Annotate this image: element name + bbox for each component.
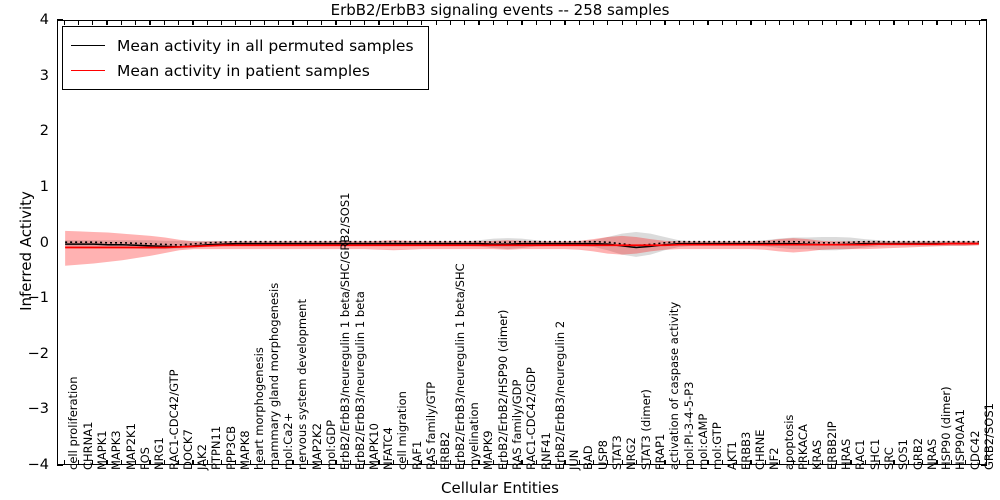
x-axis-tick-mark [493,460,494,465]
x-axis-tick-mark [908,20,909,25]
x-axis-tick-mark [550,20,551,25]
x-axis-tick-label: heart morphogenesis [254,347,266,470]
x-axis-tick-mark [922,460,923,465]
x-axis-tick-mark [178,20,179,25]
x-axis-tick-label: NRG1 [154,437,166,470]
chart-figure: ErbB2/ErbB3 signaling events -- 258 samp… [0,0,1000,500]
x-axis-tick-mark [951,20,952,25]
x-axis-tick-mark [521,460,522,465]
x-axis-tick-mark [536,460,537,465]
x-axis-tick-mark [92,460,93,465]
x-axis-tick-label: ErbB2/ErbB3/neuregulin 1 beta/SHC [455,263,467,470]
x-axis-tick-label: mammary gland morphogenesis [269,283,281,470]
x-axis-tick-mark [78,20,79,25]
x-axis-tick-mark [879,460,880,465]
x-axis-tick-mark [321,20,322,25]
x-axis-tick-label: SHC1 [870,439,882,470]
x-axis-tick-mark [106,20,107,25]
x-axis-tick-label: cell proliferation [68,376,80,470]
x-axis-tick-label: mol:PI-3-4-5-P3 [684,382,696,470]
x-axis-tick-mark [750,20,751,25]
x-axis-tick-label: RAS family/GDP [512,380,524,470]
x-axis-tick-mark [808,20,809,25]
x-axis-tick-mark [207,20,208,25]
x-axis-tick-mark [436,460,437,465]
x-axis-label: Cellular Entities [0,479,1000,497]
x-axis-tick-mark [622,20,623,25]
x-axis-tick-mark [250,460,251,465]
x-axis-tick-mark [736,460,737,465]
x-axis-tick-mark [521,20,522,25]
x-axis-tick-label: JAK2 [197,444,209,470]
x-axis-tick-mark [793,460,794,465]
x-axis-tick-mark [364,20,365,25]
x-axis-tick-mark [722,20,723,25]
x-axis-tick-label: SRC [884,447,896,470]
x-axis-tick-label: STAT3 (dimer) [641,389,653,470]
x-axis-tick-mark [908,460,909,465]
x-axis-tick-mark [407,460,408,465]
x-axis-tick-mark [493,20,494,25]
x-axis-tick-mark [593,460,594,465]
x-axis-tick-mark [235,460,236,465]
legend-label-patient: Mean activity in patient samples [117,62,370,80]
x-axis-tick-mark [378,20,379,25]
x-axis-tick-mark [965,20,966,25]
x-axis-tick-mark [893,460,894,465]
x-axis-tick-mark [421,20,422,25]
x-axis-tick-mark [965,460,966,465]
x-axis-tick-mark [836,20,837,25]
x-axis-tick-mark [793,20,794,25]
x-axis-tick-mark [536,20,537,25]
x-axis-tick-mark [393,460,394,465]
x-axis-tick-mark [707,460,708,465]
x-axis-tick-label: RAC1 [855,439,867,470]
x-axis-tick-mark [450,20,451,25]
x-axis-tick-mark [78,460,79,465]
x-axis-tick-mark [335,20,336,25]
x-axis-tick-mark [464,460,465,465]
x-axis-tick-mark [979,460,980,465]
x-axis-tick-mark [893,20,894,25]
x-axis-tick-mark [693,20,694,25]
x-axis-tick-mark [865,20,866,25]
x-axis-tick-mark [879,20,880,25]
x-axis-tick-label: NF2 [769,447,781,470]
x-axis-tick-mark [64,460,65,465]
x-axis-tick-mark [650,460,651,465]
x-axis-tick-label: ErbB2/ErbB3/neuregulin 1 beta/SHC/GRB2/S… [340,193,352,470]
x-axis-tick-mark [936,20,937,25]
x-axis-tick-mark [335,460,336,465]
x-axis-tick-mark [507,20,508,25]
x-axis-tick-label: GRB2 [913,438,925,470]
x-axis-tick-mark [178,460,179,465]
x-axis-tick-mark [192,460,193,465]
x-axis-tick-label: NRAS [927,439,939,470]
x-axis-tick-mark [607,460,608,465]
x-axis-tick-mark [579,460,580,465]
x-axis-tick-mark [836,460,837,465]
x-axis-tick-mark [121,20,122,25]
x-axis-tick-mark [321,460,322,465]
x-axis-tick-mark [292,460,293,465]
x-axis-tick-mark [393,20,394,25]
x-axis-tick-mark [278,460,279,465]
x-axis-tick-mark [850,460,851,465]
x-axis-tick-mark [750,460,751,465]
x-axis-tick-mark [564,460,565,465]
x-axis-tick-mark [121,460,122,465]
x-axis-tick-mark [164,20,165,25]
x-axis-tick-mark [149,20,150,25]
x-axis-tick-mark [292,20,293,25]
x-axis-tick-label: KRAS [812,440,824,470]
x-axis-tick-mark [679,460,680,465]
x-axis-tick-mark [607,20,608,25]
x-axis-tick-mark [579,20,580,25]
x-axis-tick-mark [636,460,637,465]
x-axis-tick-mark [307,460,308,465]
x-axis-tick-mark [207,460,208,465]
x-axis-tick-label: nervous system development [297,299,309,470]
x-axis-tick-mark [736,20,737,25]
x-axis-tick-mark [779,20,780,25]
x-axis-tick-mark [865,460,866,465]
x-axis-tick-mark [135,20,136,25]
x-axis-tick-mark [679,20,680,25]
x-axis-tick-mark [765,20,766,25]
x-axis-tick-mark [822,460,823,465]
x-axis-tick-mark [593,20,594,25]
legend-label-permuted: Mean activity in all permuted samples [117,37,414,55]
x-axis-tick-label: HRAS [841,439,853,470]
x-axis-tick-mark [722,460,723,465]
legend-swatch-patient [71,70,105,71]
x-axis-tick-mark [850,20,851,25]
x-axis-tick-label: BAD [583,445,595,470]
x-axis-tick-mark [407,20,408,25]
x-axis-tick-mark [192,20,193,25]
x-axis-tick-mark [221,20,222,25]
x-axis-tick-mark [135,460,136,465]
x-axis-tick-mark [264,460,265,465]
x-axis-tick-mark [951,460,952,465]
x-axis-tick-label: USP8 [598,440,610,470]
x-axis-tick-mark [364,460,365,465]
x-axis-tick-mark [421,460,422,465]
x-axis-tick-mark [164,460,165,465]
x-axis-tick-label: RAS family/GTP [426,382,438,470]
x-axis-tick-label: activation of caspase activity [669,302,681,470]
x-axis-tick-label: HSP90 (dimer) [941,386,953,470]
legend-item: Mean activity in all permuted samples [71,33,414,58]
x-axis-tick-mark [149,460,150,465]
x-axis-tick-mark [436,20,437,25]
x-axis-tick-mark [564,20,565,25]
x-axis-tick-label: ErbB2/ErbB2/HSP90 (dimer) [498,310,510,470]
x-axis-tick-mark [464,20,465,25]
x-axis-tick-mark [106,460,107,465]
x-axis-tick-mark [822,20,823,25]
x-axis-tick-mark [478,20,479,25]
x-axis-tick-mark [664,20,665,25]
x-axis-tick-mark [250,20,251,25]
x-axis-tick-mark [550,460,551,465]
x-axis-tick-mark [478,460,479,465]
x-axis-tick-mark [779,460,780,465]
legend-swatch-permuted [71,45,105,46]
x-axis-tick-mark [979,20,980,25]
x-axis-tick-mark [922,20,923,25]
x-axis-tick-mark [235,20,236,25]
x-axis-tick-label: ErbB2/ErbB3/neuregulin 2 [555,321,567,470]
x-axis-tick-mark [664,460,665,465]
x-axis-tick-mark [765,460,766,465]
legend-item: Mean activity in patient samples [71,58,414,83]
x-axis-tick-mark [707,20,708,25]
x-axis-tick-mark [350,460,351,465]
x-axis-tick-mark [650,20,651,25]
x-axis-tick-mark [450,460,451,465]
x-axis-tick-mark [507,460,508,465]
x-axis-tick-mark [636,20,637,25]
x-axis-tick-mark [378,460,379,465]
x-axis-tick-mark [64,20,65,25]
x-axis-tick-mark [936,460,937,465]
x-axis-tick-mark [92,20,93,25]
x-axis-tick-label: RAC1-CDC42/GDP [526,367,538,470]
x-axis-tick-label: FOS [140,447,152,470]
x-axis-tick-mark [307,20,308,25]
chart-legend: Mean activity in all permuted samples Me… [62,26,429,90]
x-axis-tick-label: cell migration [397,391,409,470]
x-axis-tick-label: ErbB2/ErbB3/neuregulin 1 beta [355,291,367,470]
x-axis-tick-mark [693,460,694,465]
x-axis-tick-label: AKT1 [727,441,739,470]
x-axis-tick-mark [278,20,279,25]
x-axis-tick-label: RAC1-CDC42/GTP [169,369,181,470]
x-axis-tick-label: NRG2 [626,437,638,470]
x-axis-tick-mark [264,20,265,25]
x-axis-tick-mark [221,460,222,465]
x-axis-tick-mark [350,20,351,25]
x-axis-tick-label: RAF1 [412,441,424,470]
x-axis-tick-mark [622,460,623,465]
x-axis-tick-mark [808,460,809,465]
x-axis-tick-label: GRB2/SOS1 [984,403,996,470]
x-axis-tick-label: SOS1 [898,439,910,470]
